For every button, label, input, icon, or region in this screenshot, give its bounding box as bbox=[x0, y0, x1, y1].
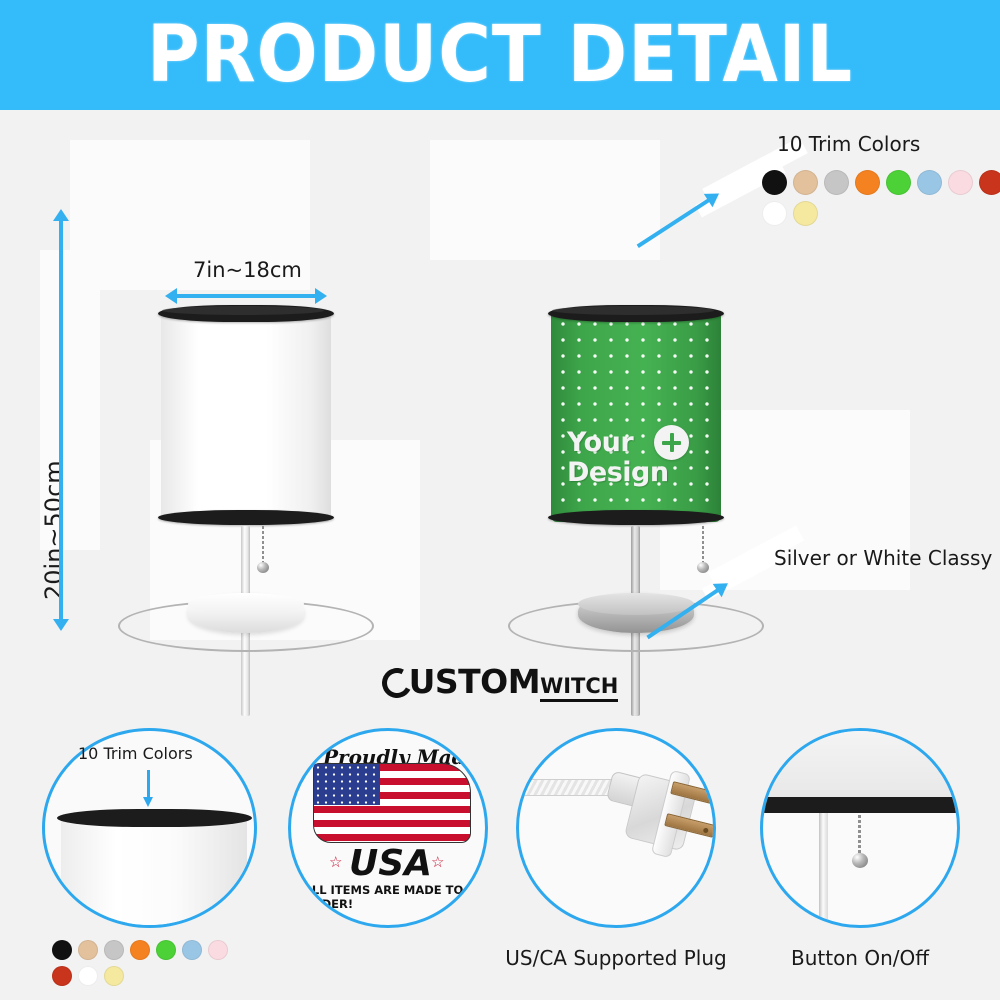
prong-hole bbox=[709, 795, 715, 801]
shade-surface bbox=[161, 310, 331, 522]
trim-color-swatches-top[interactable] bbox=[762, 170, 1000, 226]
trim-swatch-green[interactable] bbox=[886, 170, 911, 195]
base-finish-callout-label: Silver or White Classy bbox=[774, 546, 992, 570]
trim-highlight bbox=[552, 306, 714, 315]
lamp-base-silver bbox=[578, 593, 694, 633]
width-dimension-arrow bbox=[176, 294, 316, 298]
made-in-usa-circle: Proudly Made in the ☆ USA ☆ ALL ITEMS AR… bbox=[288, 728, 488, 928]
product-stage: 7in~18cm 20in~50cm Your De bbox=[0, 110, 1000, 710]
shade-surface bbox=[551, 310, 721, 522]
lamp-base-white bbox=[188, 593, 304, 633]
switch-circle bbox=[760, 728, 960, 928]
trim-colors-callout-label: 10 Trim Colors bbox=[777, 132, 920, 156]
trim-swatch-yellow[interactable] bbox=[104, 966, 124, 986]
trim-swatch-white[interactable] bbox=[78, 966, 98, 986]
logo-name-main: USTOM bbox=[409, 662, 540, 701]
trim-swatch-red[interactable] bbox=[52, 966, 72, 986]
shade-trim-bottom bbox=[158, 510, 334, 525]
trim-colors-inner-label: 10 Trim Colors bbox=[78, 744, 193, 763]
star-icon: ☆ bbox=[329, 853, 342, 871]
trim-swatch-red[interactable] bbox=[979, 170, 1000, 195]
trim-swatch-yellow[interactable] bbox=[793, 201, 818, 226]
lamp-shade-white bbox=[161, 310, 331, 522]
trim-swatch-tan[interactable] bbox=[78, 940, 98, 960]
brand-logo: USTOMWITCH bbox=[0, 662, 1000, 701]
logo-name-sub: WITCH bbox=[540, 674, 618, 702]
trim-highlight bbox=[162, 306, 324, 315]
shade-closeup bbox=[61, 819, 247, 928]
lamp-pole-closeup bbox=[819, 813, 828, 928]
trim-swatch-light-blue[interactable] bbox=[917, 170, 942, 195]
pull-chain[interactable] bbox=[262, 526, 264, 566]
trim-swatch-orange[interactable] bbox=[855, 170, 880, 195]
design-text-block: Your Design bbox=[567, 428, 669, 488]
trim-swatch-white[interactable] bbox=[762, 201, 787, 226]
usa-flag-map-icon bbox=[313, 763, 471, 843]
trim-swatch-light-blue[interactable] bbox=[182, 940, 202, 960]
trim-swatch-black[interactable] bbox=[52, 940, 72, 960]
usa-badge-line3: USA bbox=[349, 843, 432, 884]
page-title: PRODUCT DETAIL bbox=[40, 14, 960, 96]
trim-swatch-orange[interactable] bbox=[130, 940, 150, 960]
height-dimension-label: 20in~50cm bbox=[40, 460, 68, 600]
trim-swatch-pink[interactable] bbox=[208, 940, 228, 960]
lamp-shade-custom: Your Design bbox=[551, 310, 721, 522]
pull-chain-ball-closeup[interactable] bbox=[852, 853, 868, 868]
flag-canton bbox=[314, 764, 380, 805]
trim-swatch-pink[interactable] bbox=[948, 170, 973, 195]
switch-label: Button On/Off bbox=[760, 946, 960, 970]
design-line-1: Your bbox=[567, 427, 633, 458]
pull-chain-ball[interactable] bbox=[257, 562, 269, 573]
polka-dot-pattern bbox=[551, 310, 721, 522]
shade-trim-top bbox=[548, 305, 724, 322]
header-banner: PRODUCT DETAIL bbox=[0, 0, 1000, 110]
shade-bottom-closeup bbox=[763, 731, 960, 803]
plus-icon bbox=[654, 425, 689, 460]
star-icon: ☆ bbox=[431, 853, 444, 871]
shade-trim-bottom bbox=[548, 510, 724, 525]
plug-label: US/CA Supported Plug bbox=[496, 946, 736, 970]
base-top bbox=[578, 593, 694, 615]
shade-trim-closeup bbox=[760, 797, 960, 813]
trim-swatch-black[interactable] bbox=[762, 170, 787, 195]
width-dimension-label: 7in~18cm bbox=[193, 258, 302, 282]
design-line-2: Design bbox=[567, 457, 669, 488]
base-top bbox=[188, 593, 304, 615]
prong-hole bbox=[703, 827, 709, 833]
shade-trim-closeup bbox=[57, 809, 252, 827]
plug-circle bbox=[516, 728, 716, 928]
pull-chain-closeup[interactable] bbox=[858, 815, 861, 857]
trim-swatch-tan[interactable] bbox=[793, 170, 818, 195]
shade-trim-top bbox=[158, 305, 334, 322]
trim-swatch-green[interactable] bbox=[156, 940, 176, 960]
trim-swatch-gray[interactable] bbox=[824, 170, 849, 195]
height-dimension-arrow bbox=[59, 220, 63, 620]
usa-badge-line4: ALL ITEMS ARE MADE TO ORDER! bbox=[303, 883, 485, 911]
bg-patch bbox=[430, 140, 660, 260]
trim-color-swatches-bottom[interactable] bbox=[52, 940, 252, 986]
trim-swatch-gray[interactable] bbox=[104, 940, 124, 960]
trim-colors-down-arrow bbox=[147, 770, 150, 798]
pull-chain[interactable] bbox=[702, 526, 704, 566]
